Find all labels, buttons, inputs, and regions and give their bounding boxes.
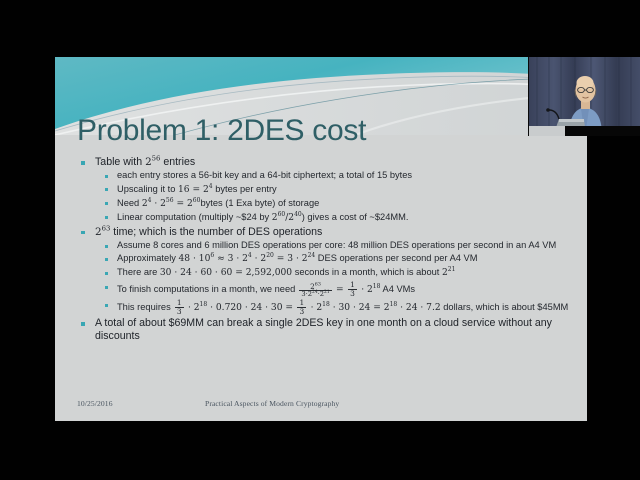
bullet-total-cost-summary: A total of about $69MM can break a singl… bbox=[77, 317, 575, 344]
bullet-text: There are 30 · 24 · 60 · 60 = 2,592,000 … bbox=[117, 267, 455, 277]
bullet-assume-cores: Assume 8 cores and 6 million DES operati… bbox=[77, 240, 575, 252]
bullet-text: Linear computation (multiply ~$24 by 260… bbox=[117, 212, 408, 222]
bullet-cost-requires: This requires 13 · 218 · 0.720 · 24 · 30… bbox=[77, 299, 575, 315]
bullet-des-operations-count: 263 time; which is the number of DES ope… bbox=[77, 226, 575, 239]
bullet-text: Assume 8 cores and 6 million DES operati… bbox=[117, 240, 556, 250]
bullet-marker bbox=[105, 286, 108, 289]
video-player-frame: Problem 1: 2DES cost Table with 256 entr… bbox=[0, 0, 640, 480]
bullet-table-entries: Table with 256 entries bbox=[77, 156, 575, 169]
bullet-marker bbox=[81, 161, 85, 165]
bullet-marker bbox=[105, 304, 108, 307]
bullet-text: To finish computations in a month, we ne… bbox=[117, 284, 415, 294]
bullet-storage-need: Need 24 · 256 = 260bytes (1 Exa byte) of… bbox=[77, 198, 575, 211]
fraction-one-third: 13 bbox=[348, 281, 357, 297]
slide-body: Table with 256 entries each entry stores… bbox=[77, 156, 575, 345]
bullet-vms-needed: To finish computations in a month, we ne… bbox=[77, 281, 575, 297]
fraction-one-third: 13 bbox=[297, 299, 306, 315]
fraction-vms: 2633·224·221 bbox=[299, 283, 331, 298]
bullet-upscaling: Upscaling it to 16 = 24 bytes per entry bbox=[77, 184, 575, 197]
bullet-marker bbox=[81, 322, 85, 326]
bullet-text: Approximately 48 · 106 ≈ 3 · 24 · 220 = … bbox=[117, 253, 477, 263]
bullet-marker bbox=[105, 258, 108, 261]
bullet-marker bbox=[105, 175, 108, 178]
footer-date: 10/25/2016 bbox=[77, 399, 113, 408]
presentation-slide: Problem 1: 2DES cost Table with 256 entr… bbox=[55, 57, 587, 421]
bullet-text: Table with 256 entries bbox=[95, 156, 195, 168]
bullet-marker bbox=[105, 202, 108, 205]
bullet-text: This requires 13 · 218 · 0.720 · 24 · 30… bbox=[117, 302, 568, 312]
bullet-approximately-ops: Approximately 48 · 106 ≈ 3 · 24 · 220 = … bbox=[77, 253, 575, 266]
bullet-marker bbox=[105, 245, 108, 248]
bullet-text: 263 time; which is the number of DES ope… bbox=[95, 226, 322, 238]
bullet-linear-computation: Linear computation (multiply ~$24 by 260… bbox=[77, 212, 575, 225]
bullet-text: Need 24 · 256 = 260bytes (1 Exa byte) of… bbox=[117, 198, 319, 208]
fraction-one-third: 13 bbox=[175, 299, 184, 315]
bullet-marker bbox=[105, 188, 108, 191]
bullet-text: each entry stores a 56-bit key and a 64-… bbox=[117, 170, 412, 180]
bullet-text: A total of about $69MM can break a singl… bbox=[95, 317, 552, 342]
footer-presentation-title: Practical Aspects of Modern Cryptography bbox=[205, 399, 339, 408]
speaker-video-inset bbox=[528, 57, 640, 136]
slide-title: Problem 1: 2DES cost bbox=[77, 114, 366, 148]
bullet-marker bbox=[81, 231, 85, 235]
bullet-seconds-in-month: There are 30 · 24 · 60 · 60 = 2,592,000 … bbox=[77, 267, 575, 280]
bullet-marker bbox=[105, 272, 108, 275]
bullet-each-entry-stores: each entry stores a 56-bit key and a 64-… bbox=[77, 170, 575, 182]
slide-footer: 10/25/2016 Practical Aspects of Modern C… bbox=[55, 399, 587, 413]
bullet-marker bbox=[105, 216, 108, 219]
speaker-video-frame bbox=[529, 57, 640, 136]
bullet-text: Upscaling it to 16 = 24 bytes per entry bbox=[117, 184, 277, 194]
